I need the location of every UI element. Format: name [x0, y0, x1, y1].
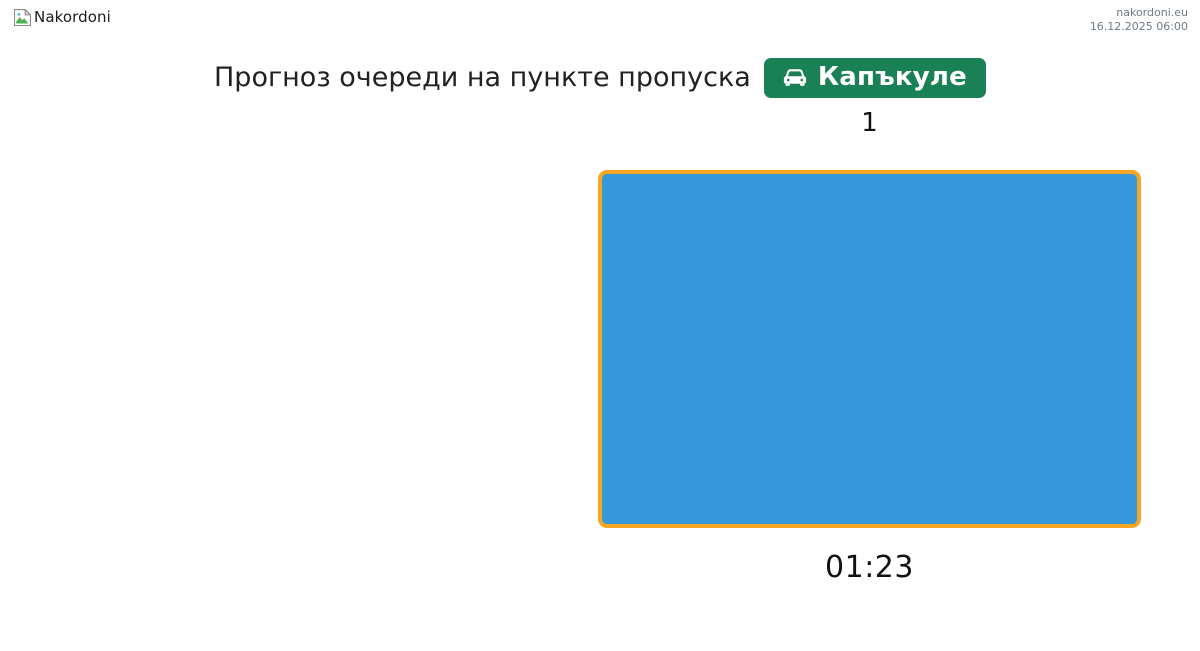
chart-plot-area: 1 01:23	[598, 108, 1141, 608]
site-meta: nakordoni.eu 16.12.2025 06:00	[1090, 6, 1188, 34]
car-icon	[781, 67, 809, 88]
bar-value-label: 1	[861, 108, 878, 142]
site-domain: nakordoni.eu	[1090, 6, 1188, 20]
page-title-row: Прогноз очереди на пункте пропуска Капък…	[0, 58, 1200, 98]
broken-image-icon	[14, 9, 31, 26]
brand-alt-text: Nakordoni	[34, 10, 111, 25]
checkpoint-badge[interactable]: Капъкуле	[764, 58, 986, 98]
bar-rect[interactable]	[598, 170, 1141, 528]
checkpoint-name: Капъкуле	[818, 63, 967, 91]
bar-group: 1 01:23	[598, 108, 1141, 608]
x-axis-tick-label: 01:23	[825, 550, 914, 586]
brand: Nakordoni	[14, 9, 111, 26]
forecast-timestamp: 16.12.2025 06:00	[1090, 20, 1188, 34]
page-title: Прогноз очереди на пункте пропуска	[214, 61, 751, 95]
